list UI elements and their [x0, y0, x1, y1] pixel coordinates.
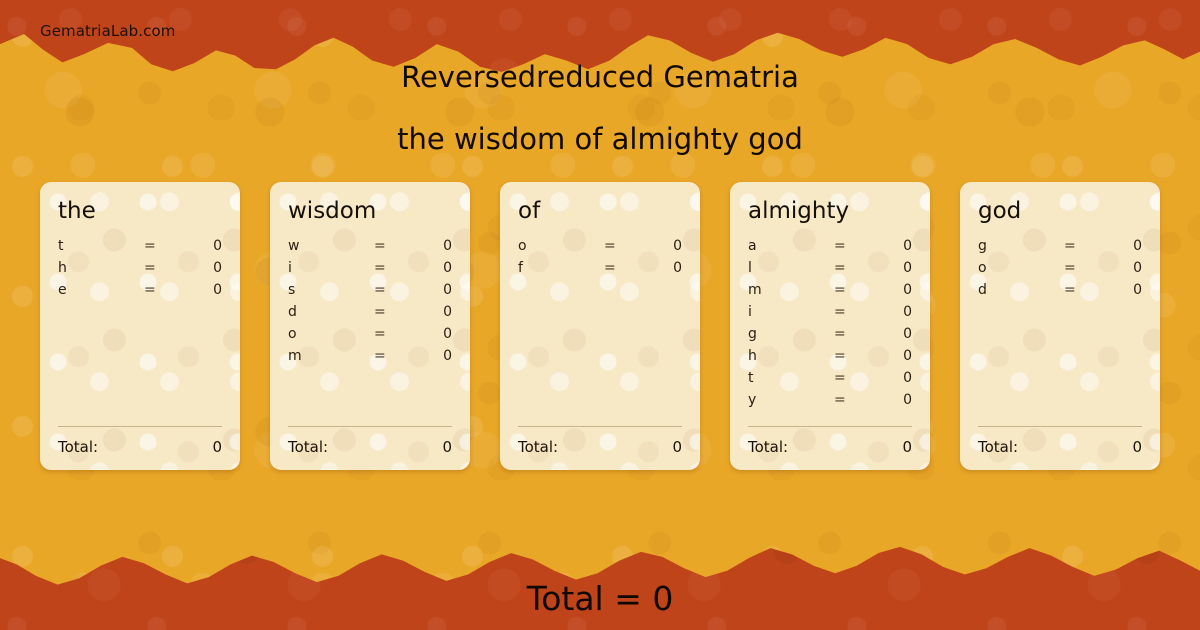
letter-row: e=0: [58, 282, 222, 304]
card-divider: [748, 426, 912, 427]
letter-row: t=0: [58, 238, 222, 260]
letter-label: d: [288, 304, 374, 320]
letter-value: 0: [408, 282, 452, 298]
letter-value: 0: [408, 326, 452, 342]
equals-sign: =: [834, 304, 868, 320]
card-divider: [518, 426, 682, 427]
word-card: almightya=0l=0m=0i=0g=0h=0t=0y=0Total:0: [730, 182, 930, 470]
card-footer: Total:0: [288, 426, 452, 456]
letter-value: 0: [408, 348, 452, 364]
letter-label: g: [748, 326, 834, 342]
site-watermark: GematriaLab.com: [40, 22, 175, 40]
equals-sign: =: [834, 260, 868, 276]
letter-label: o: [518, 238, 604, 254]
card-total-row: Total:0: [518, 438, 682, 456]
letter-row-list: o=0f=0: [518, 238, 682, 282]
letter-value: 0: [868, 282, 912, 298]
equals-sign: =: [144, 238, 178, 254]
equals-sign: =: [604, 260, 638, 276]
card-divider: [58, 426, 222, 427]
letter-row-list: a=0l=0m=0i=0g=0h=0t=0y=0: [748, 238, 912, 414]
equals-sign: =: [1064, 238, 1098, 254]
card-word-label: wisdom: [288, 198, 452, 224]
card-total-label: Total:: [748, 438, 788, 456]
page-title: Reversedreduced Gematria: [0, 60, 1200, 94]
card-word-label: of: [518, 198, 682, 224]
letter-row: d=0: [288, 304, 452, 326]
letter-label: s: [288, 282, 374, 298]
letter-row: f=0: [518, 260, 682, 282]
letter-row: l=0: [748, 260, 912, 282]
letter-label: g: [978, 238, 1064, 254]
card-total-row: Total:0: [288, 438, 452, 456]
card-total-label: Total:: [978, 438, 1018, 456]
equals-sign: =: [1064, 282, 1098, 298]
letter-row: a=0: [748, 238, 912, 260]
equals-sign: =: [374, 260, 408, 276]
equals-sign: =: [144, 282, 178, 298]
letter-row: i=0: [288, 260, 452, 282]
letter-value: 0: [1098, 238, 1142, 254]
letter-row-list: t=0h=0e=0: [58, 238, 222, 304]
letter-value: 0: [868, 238, 912, 254]
letter-row: t=0: [748, 370, 912, 392]
letter-label: t: [748, 370, 834, 386]
letter-value: 0: [868, 370, 912, 386]
letter-label: t: [58, 238, 144, 254]
equals-sign: =: [834, 348, 868, 364]
letter-label: o: [978, 260, 1064, 276]
letter-value: 0: [178, 282, 222, 298]
letter-row: o=0: [978, 260, 1142, 282]
letter-row: g=0: [748, 326, 912, 348]
letter-value: 0: [638, 260, 682, 276]
card-word-label: the: [58, 198, 222, 224]
word-card: wisdomw=0i=0s=0d=0o=0m=0Total:0: [270, 182, 470, 470]
letter-value: 0: [868, 348, 912, 364]
letter-row: h=0: [748, 348, 912, 370]
card-total-value: 0: [212, 438, 222, 456]
page-content: GematriaLab.com Reversedreduced Gematria…: [0, 0, 1200, 630]
card-total-label: Total:: [288, 438, 328, 456]
card-word-label: almighty: [748, 198, 912, 224]
letter-value: 0: [1098, 260, 1142, 276]
letter-value: 0: [178, 238, 222, 254]
letter-label: m: [288, 348, 374, 364]
card-total-value: 0: [672, 438, 682, 456]
letter-label: w: [288, 238, 374, 254]
card-footer: Total:0: [58, 426, 222, 456]
letter-row: o=0: [288, 326, 452, 348]
letter-value: 0: [868, 304, 912, 320]
word-card-list: thet=0h=0e=0Total:0wisdomw=0i=0s=0d=0o=0…: [40, 182, 1160, 470]
equals-sign: =: [834, 370, 868, 386]
letter-row: m=0: [288, 348, 452, 370]
equals-sign: =: [1064, 260, 1098, 276]
letter-value: 0: [178, 260, 222, 276]
letter-label: l: [748, 260, 834, 276]
equals-sign: =: [374, 304, 408, 320]
card-total-label: Total:: [518, 438, 558, 456]
letter-label: i: [288, 260, 374, 276]
card-total-row: Total:0: [58, 438, 222, 456]
equals-sign: =: [834, 392, 868, 408]
letter-label: m: [748, 282, 834, 298]
equals-sign: =: [834, 282, 868, 298]
card-total-row: Total:0: [748, 438, 912, 456]
equals-sign: =: [374, 238, 408, 254]
letter-value: 0: [868, 326, 912, 342]
letter-row-list: g=0o=0d=0: [978, 238, 1142, 304]
card-total-label: Total:: [58, 438, 98, 456]
letter-label: y: [748, 392, 834, 408]
word-card: ofo=0f=0Total:0: [500, 182, 700, 470]
card-word-label: god: [978, 198, 1142, 224]
equals-sign: =: [144, 260, 178, 276]
letter-value: 0: [868, 392, 912, 408]
card-divider: [288, 426, 452, 427]
letter-row: d=0: [978, 282, 1142, 304]
word-card: godg=0o=0d=0Total:0: [960, 182, 1160, 470]
letter-row: o=0: [518, 238, 682, 260]
page-canvas: GematriaLab.com Reversedreduced Gematria…: [0, 0, 1200, 630]
letter-label: e: [58, 282, 144, 298]
letter-label: h: [748, 348, 834, 364]
word-card: thet=0h=0e=0Total:0: [40, 182, 240, 470]
equals-sign: =: [374, 282, 408, 298]
letter-label: i: [748, 304, 834, 320]
letter-row: y=0: [748, 392, 912, 414]
equals-sign: =: [374, 348, 408, 364]
letter-row: h=0: [58, 260, 222, 282]
card-footer: Total:0: [748, 426, 912, 456]
letter-label: h: [58, 260, 144, 276]
letter-value: 0: [1098, 282, 1142, 298]
card-divider: [978, 426, 1142, 427]
letter-row: s=0: [288, 282, 452, 304]
equals-sign: =: [604, 238, 638, 254]
card-total-value: 0: [1132, 438, 1142, 456]
equals-sign: =: [834, 238, 868, 254]
letter-row: m=0: [748, 282, 912, 304]
card-total-row: Total:0: [978, 438, 1142, 456]
equals-sign: =: [834, 326, 868, 342]
letter-value: 0: [408, 238, 452, 254]
grand-total: Total = 0: [0, 579, 1200, 618]
letter-value: 0: [868, 260, 912, 276]
card-total-value: 0: [902, 438, 912, 456]
letter-row: i=0: [748, 304, 912, 326]
letter-value: 0: [408, 304, 452, 320]
equals-sign: =: [374, 326, 408, 342]
phrase-heading: the wisdom of almighty god: [0, 122, 1200, 156]
letter-row-list: w=0i=0s=0d=0o=0m=0: [288, 238, 452, 370]
card-total-value: 0: [442, 438, 452, 456]
letter-label: f: [518, 260, 604, 276]
letter-label: d: [978, 282, 1064, 298]
letter-row: g=0: [978, 238, 1142, 260]
letter-value: 0: [408, 260, 452, 276]
letter-label: o: [288, 326, 374, 342]
letter-label: a: [748, 238, 834, 254]
card-footer: Total:0: [978, 426, 1142, 456]
letter-row: w=0: [288, 238, 452, 260]
card-footer: Total:0: [518, 426, 682, 456]
letter-value: 0: [638, 238, 682, 254]
